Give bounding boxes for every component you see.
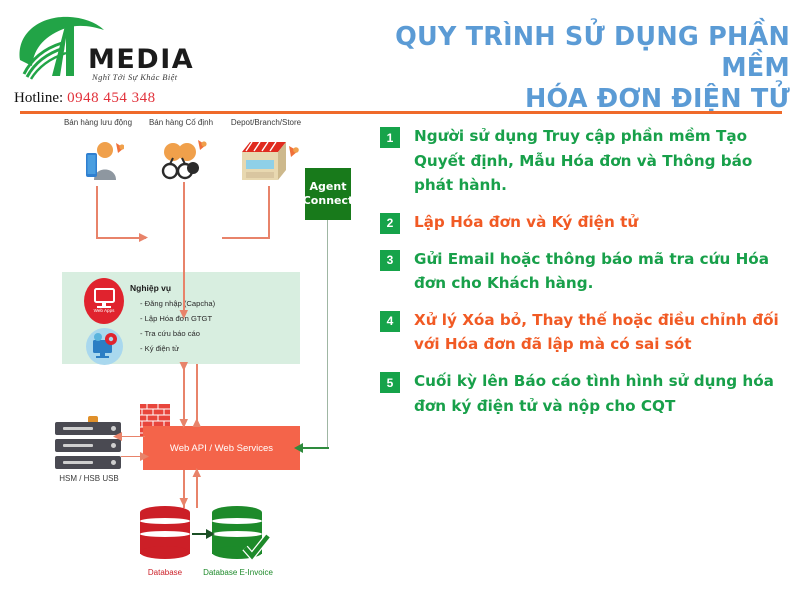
label-fixed-sales: Bán hàng Cố định: [146, 118, 216, 129]
web-api-box: Web API / Web Services: [143, 426, 300, 470]
arrow-head-icon: [206, 528, 218, 540]
web-api-label: Web API / Web Services: [170, 443, 273, 454]
mobile-sales-icon: [78, 140, 124, 184]
brand-logo: MEDIA Nghĩ Tới Sự Khác Biệt: [14, 12, 214, 90]
arrow-head-icon: [192, 468, 204, 480]
arrow-head-icon: [179, 310, 191, 322]
agent-flow-line: [303, 447, 329, 449]
arrow-head-icon: [179, 362, 191, 374]
business-box-item: - Tra cứu báo cáo: [140, 329, 200, 338]
arrow-head-icon: [140, 451, 152, 463]
hotline: Hotline:0948 454 348: [14, 90, 156, 107]
step-item: 3 Gửi Email hoặc thông báo mã tra cứu Hó…: [380, 247, 790, 296]
page-title-line1: QUY TRÌNH SỬ DỤNG PHẦN MỀM: [330, 22, 790, 84]
agent-connect-label: Agent Connect: [303, 180, 354, 208]
step-badge: 4: [380, 311, 400, 332]
agent-connect-box: Agent Connect: [305, 168, 351, 220]
flow-line: [183, 182, 185, 316]
fixed-sales-icon: [158, 138, 210, 184]
web-app-icon: Web Apps: [84, 278, 124, 324]
step-text: Lập Hóa đơn và Ký điện tử: [414, 210, 638, 235]
hotline-number: 0948 454 348: [67, 90, 156, 106]
flow-line: [196, 364, 198, 426]
arrow-head-icon: [139, 232, 151, 244]
monitor-gear-glyph-icon: [86, 328, 123, 365]
hsm-servers-icon: [55, 422, 121, 470]
arrow-head-icon: [294, 442, 306, 454]
step-badge: 2: [380, 213, 400, 234]
step-item: 4 Xử lý Xóa bỏ, Thay thế hoặc điều chỉnh…: [380, 308, 790, 357]
hsm-caption: HSM / HSB USB: [43, 474, 135, 483]
step-item: 1 Người sử dụng Truy cập phần mềm Tạo Qu…: [380, 124, 790, 198]
agent-flow-line: [327, 220, 328, 448]
server-unit: [55, 456, 121, 469]
hotline-label: Hotline:: [14, 90, 63, 106]
business-box-item: - Đăng nhập (Capcha): [140, 299, 215, 308]
flow-line: [222, 237, 270, 239]
page-title: QUY TRÌNH SỬ DỤNG PHẦN MỀM HÓA ĐƠN ĐIỆN …: [330, 22, 790, 115]
poster-root: MEDIA Nghĩ Tới Sự Khác Biệt Hotline:0948…: [0, 0, 800, 600]
services-gear-icon: [86, 328, 123, 365]
label-depot: Depot/Branch/Store: [215, 118, 317, 129]
step-text: Người sử dụng Truy cập phần mềm Tạo Quyế…: [414, 124, 790, 198]
step-item: 5 Cuối kỳ lên Báo cáo tình hình sử dụng …: [380, 369, 790, 418]
business-box-title: Nghiệp vụ: [130, 283, 171, 293]
business-box-item: - Ký điện tử: [140, 344, 179, 353]
header-divider: [20, 111, 782, 114]
flow-line: [96, 186, 98, 239]
database-einvoice-icon: [212, 506, 262, 560]
steps-list: 1 Người sử dụng Truy cập phần mềm Tạo Qu…: [380, 124, 790, 430]
step-badge: 1: [380, 127, 400, 148]
step-text: Cuối kỳ lên Báo cáo tình hình sử dụng hó…: [414, 369, 790, 418]
arrow-head-icon: [179, 498, 191, 510]
step-text: Xử lý Xóa bỏ, Thay thế hoặc điều chỉnh đ…: [414, 308, 790, 357]
architecture-diagram: Bán hàng lưu động Bán hàng Cố định Depot…: [0, 116, 376, 596]
business-box-item: - Lập Hóa đơn GTGT: [140, 314, 212, 323]
arrow-head-icon: [179, 419, 191, 431]
logo-tagline: Nghĩ Tới Sự Khác Biệt: [92, 72, 178, 82]
step-badge: 5: [380, 372, 400, 393]
step-badge: 3: [380, 250, 400, 271]
depot-store-icon: [232, 134, 304, 186]
arrow-head-icon: [192, 418, 204, 430]
database-einvoice-caption: Database E-Invoice: [186, 568, 290, 577]
check-badge-icon: [242, 534, 270, 560]
arrow-head-icon: [113, 431, 125, 443]
web-app-caption: Web Apps: [84, 308, 124, 313]
logo-wordmark: MEDIA: [88, 44, 194, 75]
database-icon: [140, 506, 190, 560]
step-item: 2 Lập Hóa đơn và Ký điện tử: [380, 210, 790, 235]
label-mobile-sales: Bán hàng lưu động: [60, 118, 136, 129]
flow-line: [268, 186, 270, 238]
step-text: Gửi Email hoặc thông báo mã tra cứu Hóa …: [414, 247, 790, 296]
server-unit: [55, 439, 121, 452]
server-unit: [55, 422, 121, 435]
